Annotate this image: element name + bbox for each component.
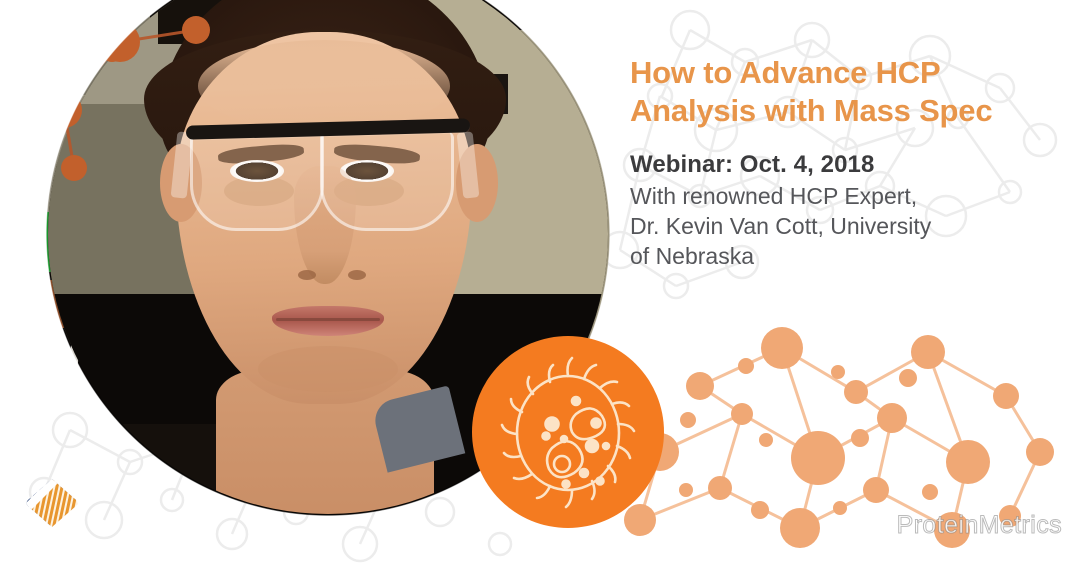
chin	[258, 346, 398, 392]
watermark-text: ProteinMetrics	[897, 511, 1062, 540]
text-block: How to Advance HCP Analysis with Mass Sp…	[630, 54, 1050, 272]
safety-glasses-lens-right	[320, 132, 454, 231]
webinar-date: Webinar: Oct. 4, 2018	[630, 151, 1050, 179]
protein-metrics-diamond-logo	[25, 476, 79, 530]
wechat-icon	[858, 513, 888, 539]
nostril-left	[298, 270, 316, 280]
webinar-promo-banner: How to Advance HCP Analysis with Mass Sp…	[0, 0, 1080, 564]
nostril-right	[348, 270, 366, 280]
cell-microbe-icon	[472, 336, 664, 528]
presenter-description: With renowned HCP Expert, Dr. Kevin Van …	[630, 181, 1050, 272]
page-title: How to Advance HCP Analysis with Mass Sp…	[630, 54, 1050, 130]
molecule-pattern-dark-corner	[0, 0, 300, 200]
wechat-watermark: ProteinMetrics	[858, 511, 1062, 540]
lip-line	[276, 318, 380, 321]
cell-microbe-badge	[472, 336, 664, 528]
